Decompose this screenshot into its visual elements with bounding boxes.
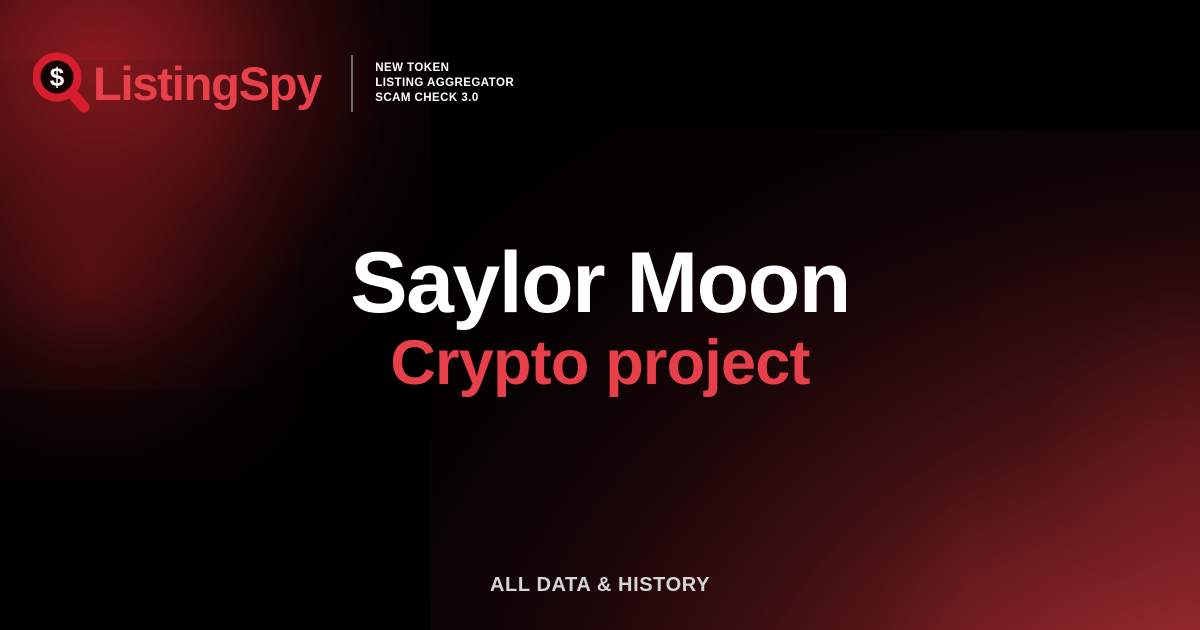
promo-card: $ ListingSpy NEW TOKEN LISTING AGGREGATO… xyxy=(0,0,1200,630)
brand-wordmark: ListingSpy xyxy=(93,60,321,107)
background-glow-corner xyxy=(880,420,1200,630)
hero-block: Saylor Moon Crypto project xyxy=(0,240,1200,400)
page-title: Saylor Moon xyxy=(0,240,1200,326)
brand-logo-lockup[interactable]: $ ListingSpy NEW TOKEN LISTING AGGREGATO… xyxy=(33,52,514,114)
footer-caption: ALL DATA & HISTORY xyxy=(490,574,710,596)
footer-block: ALL DATA & HISTORY xyxy=(0,574,1200,597)
page-subtitle: Crypto project xyxy=(0,326,1200,400)
logo-divider xyxy=(351,55,353,112)
tagline-line-2: LISTING AGGREGATOR xyxy=(375,77,514,89)
magnifier-dollar-icon: $ xyxy=(33,52,91,114)
tagline-line-3: SCAM CHECK 3.0 xyxy=(375,92,514,104)
brand-tagline: NEW TOKEN LISTING AGGREGATOR SCAM CHECK … xyxy=(375,62,514,104)
tagline-line-1: NEW TOKEN xyxy=(375,62,514,74)
svg-text:$: $ xyxy=(50,62,65,92)
